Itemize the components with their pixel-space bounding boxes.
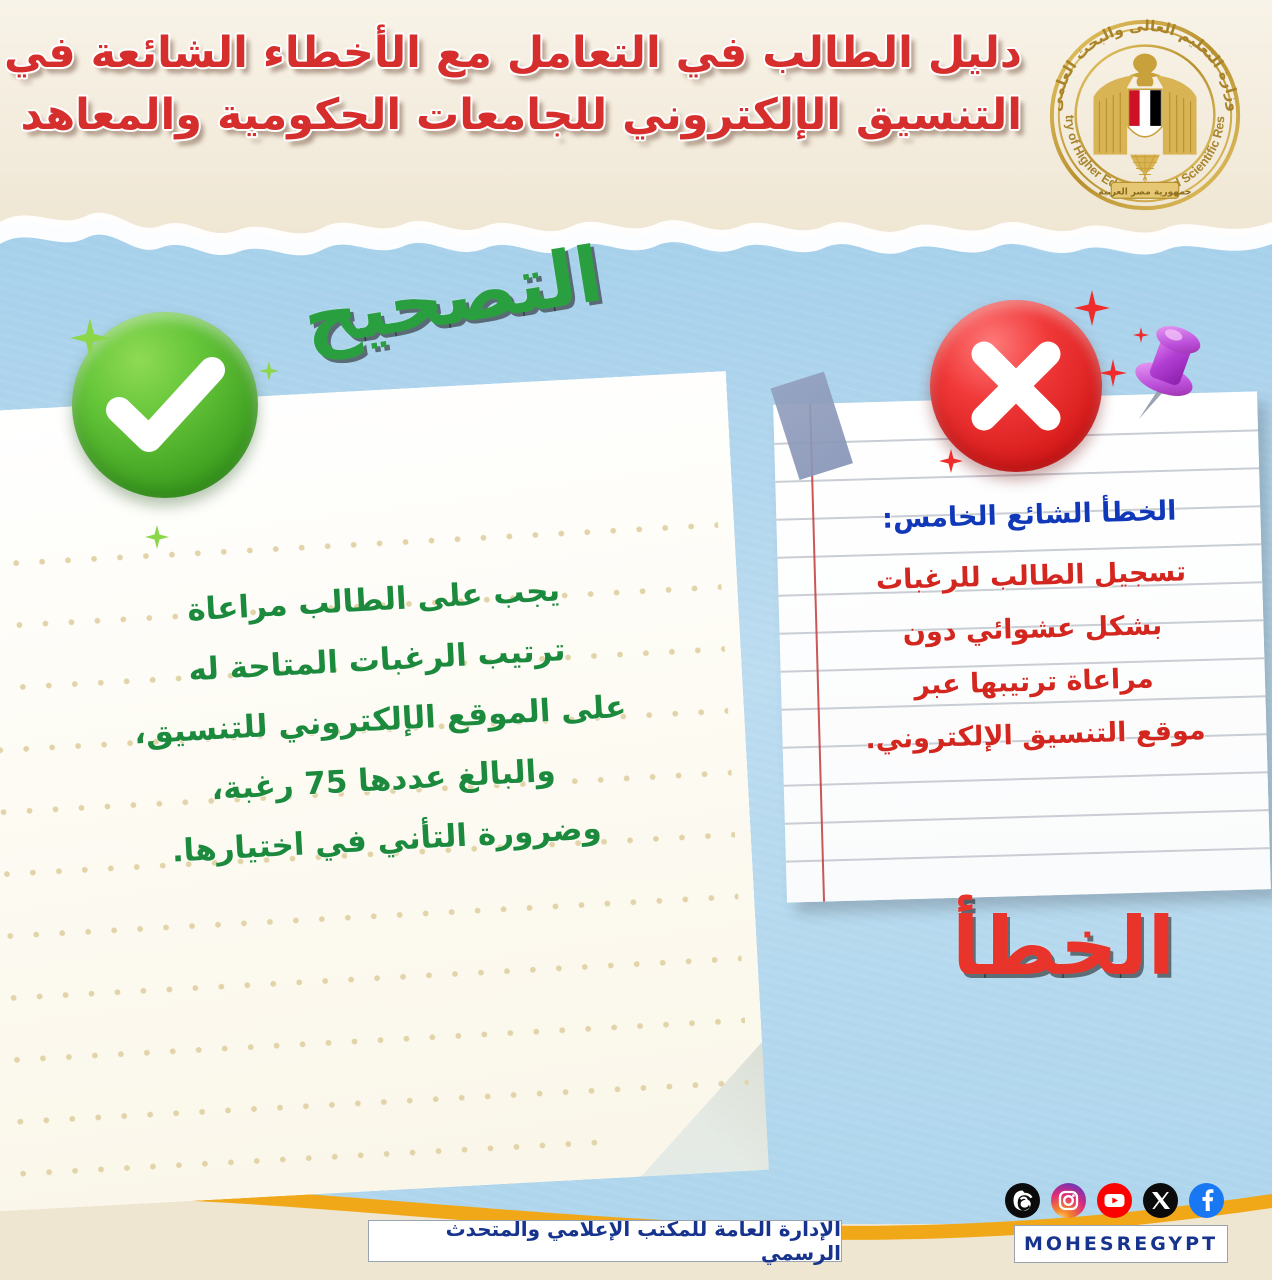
correction-text-block: يجب على الطالب مراعاة ترتيب الرغبات المت… xyxy=(43,553,718,888)
social-links xyxy=(1005,1183,1224,1218)
threads-icon[interactable] xyxy=(1005,1183,1040,1218)
youtube-icon[interactable] xyxy=(1097,1183,1132,1218)
error-text-block: الخطأ الشائع الخامس: تسجيل الطالب للرغبا… xyxy=(814,488,1251,768)
poster-canvas: دليل الطالب في التعامل مع الأخطاء الشائع… xyxy=(0,0,1272,1280)
page-title: دليل الطالب في التعامل مع الأخطاء الشائع… xyxy=(62,22,1022,147)
instagram-icon[interactable] xyxy=(1051,1183,1086,1218)
pushpin-icon xyxy=(1118,308,1218,438)
x-circle-icon xyxy=(930,300,1102,472)
page-title-line-1: دليل الطالب في التعامل مع الأخطاء الشائع… xyxy=(62,22,1022,84)
page-title-line-2: التنسيق الإلكتروني للجامعات الحكومية وال… xyxy=(62,84,1022,146)
press-office-label: الإدارة العامة للمكتب الإعلامي والمتحدث … xyxy=(368,1220,842,1262)
error-body: تسجيل الطالب للرغبات بشكل عشوائي دون مرا… xyxy=(815,544,1251,768)
ministry-logo: وزارة التعليم العالى والبحث العلمى Minis… xyxy=(1036,6,1254,224)
facebook-icon[interactable] xyxy=(1189,1183,1224,1218)
check-circle-icon xyxy=(72,312,258,498)
logo-motto: جمهورية مصر العربية xyxy=(1098,187,1191,197)
social-handle: MOHESREGYPT xyxy=(1014,1225,1228,1263)
x-twitter-icon[interactable] xyxy=(1143,1183,1178,1218)
footer-bar: الإدارة العامة للمكتب الإعلامي والمتحدث … xyxy=(0,1180,1272,1280)
error-label: الخطأ xyxy=(952,900,1175,993)
